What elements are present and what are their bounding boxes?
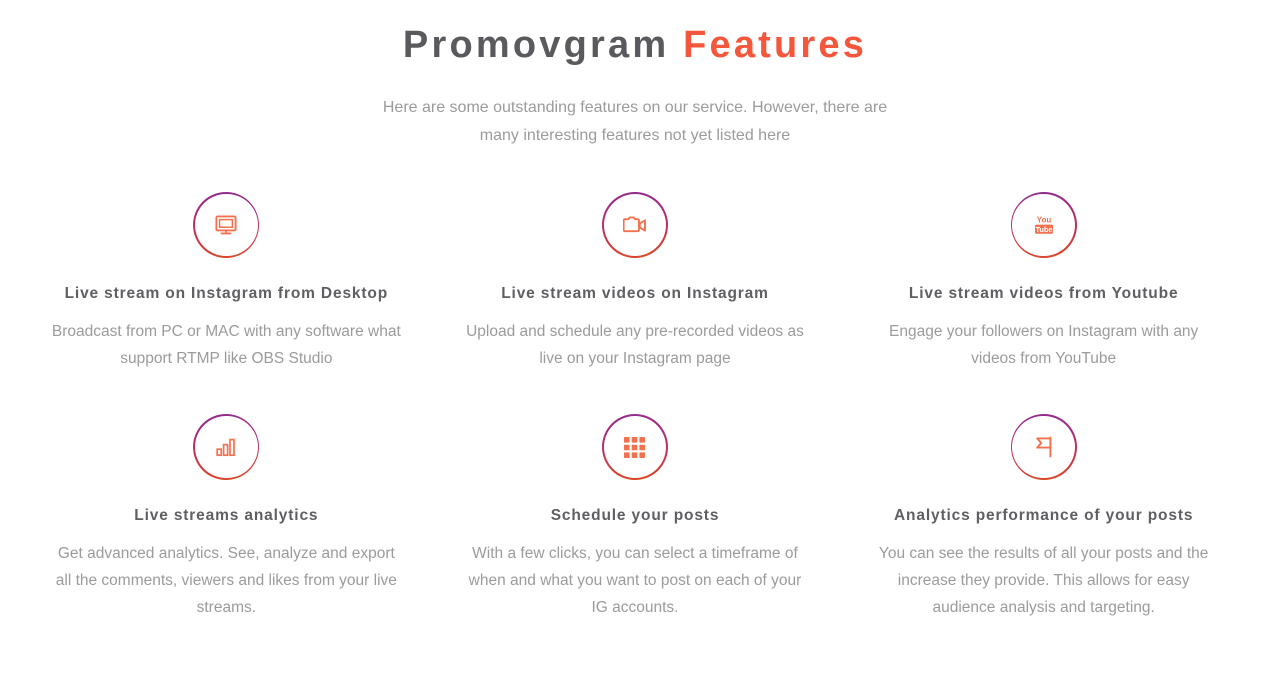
feature-icon-ring	[602, 192, 668, 258]
page-title-accent: Features	[683, 24, 867, 66]
features-grid: Live stream on Instagram from Desktop Br…	[0, 192, 1270, 621]
page-title: Promovgram Features	[0, 0, 1270, 68]
feature-icon-ring	[193, 192, 259, 258]
feature-title: Analytics performance of your posts	[894, 506, 1193, 526]
feature-description: Upload and schedule any pre-recorded vid…	[459, 318, 811, 372]
page-title-space	[669, 24, 683, 66]
feature-icon-ring	[602, 414, 668, 480]
feature-card: You Tube Live stream videos from Youtube…	[839, 192, 1248, 372]
video-camera-icon	[623, 213, 647, 237]
desktop-monitor-icon	[214, 213, 238, 237]
feature-card: Schedule your posts With a few clicks, y…	[431, 414, 840, 621]
feature-icon-ring: You Tube	[1011, 192, 1077, 258]
feature-card: Live stream videos on Instagram Upload a…	[431, 192, 840, 372]
flag-icon	[1032, 435, 1056, 459]
feature-title: Live stream videos on Instagram	[501, 284, 769, 304]
feature-icon-ring	[1011, 414, 1077, 480]
feature-title: Schedule your posts	[551, 506, 720, 526]
bar-chart-icon	[214, 435, 238, 459]
page-subtitle: Here are some outstanding features on ou…	[365, 94, 905, 150]
page-title-primary: Promovgram	[403, 24, 669, 66]
feature-card: Live stream on Instagram from Desktop Br…	[22, 192, 431, 372]
feature-description: With a few clicks, you can select a time…	[459, 540, 811, 621]
svg-text:Tube: Tube	[1035, 225, 1052, 234]
svg-text:You: You	[1036, 216, 1051, 225]
features-page: Promovgram Features Here are some outsta…	[0, 0, 1270, 685]
feature-description: You can see the results of all your post…	[868, 540, 1220, 621]
feature-description: Broadcast from PC or MAC with any softwa…	[50, 318, 402, 372]
feature-icon-ring	[193, 414, 259, 480]
grid-squares-icon	[623, 435, 647, 459]
feature-description: Engage your followers on Instagram with …	[868, 318, 1220, 372]
feature-card: Analytics performance of your posts You …	[839, 414, 1248, 621]
feature-card: Live streams analytics Get advanced anal…	[22, 414, 431, 621]
feature-title: Live streams analytics	[134, 506, 318, 526]
feature-title: Live stream on Instagram from Desktop	[65, 284, 388, 304]
feature-title: Live stream videos from Youtube	[909, 284, 1179, 304]
feature-description: Get advanced analytics. See, analyze and…	[50, 540, 402, 621]
youtube-logo-icon: You Tube	[1032, 213, 1056, 237]
